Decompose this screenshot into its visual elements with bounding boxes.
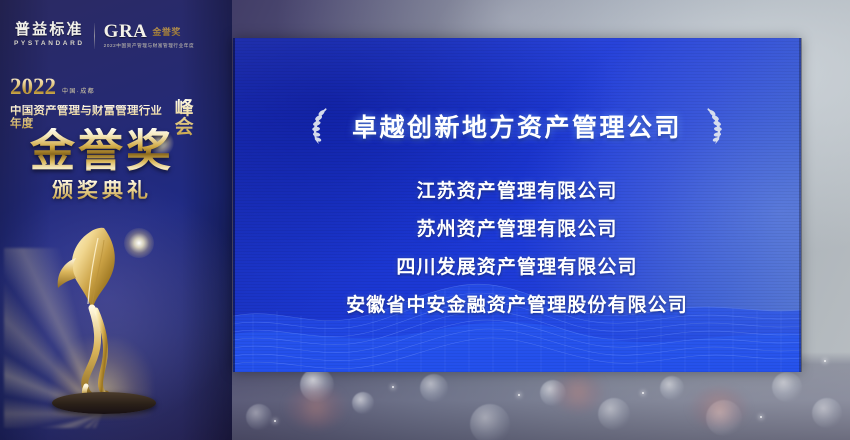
list-item: 苏州资产管理有限公司 bbox=[416, 214, 617, 241]
led-screen-panel: 卓越创新地方资产管理公司 江苏资产管理有限公司 苏州资产管理有限公司 四川发展资… bbox=[233, 38, 801, 372]
sparkle bbox=[760, 416, 762, 418]
screen-right-edge bbox=[799, 38, 802, 372]
list-item: 江苏资产管理有限公司 bbox=[416, 176, 617, 203]
laurel-branch-left-icon bbox=[306, 106, 332, 146]
sponsor-logo-row: 普益标准 PYSTANDARD GRA 金誉奖 2022中国资产管理与财富管理行… bbox=[14, 22, 204, 49]
award-ceremony-stage-photo: 普益标准 PYSTANDARD GRA 金誉奖 2022中国资产管理与财富管理行… bbox=[0, 0, 850, 440]
winner-list: 江苏资产管理有限公司 苏州资产管理有限公司 四川发展资产管理有限公司 安徽省中安… bbox=[233, 176, 801, 317]
warm-glow bbox=[690, 388, 748, 428]
trophy-highlight-sparkle bbox=[124, 228, 154, 258]
award-category-title: 卓越创新地方资产管理公司 bbox=[352, 108, 682, 144]
list-item: 安徽省中安金融资产管理股份有限公司 bbox=[346, 290, 688, 317]
sparkle bbox=[824, 360, 826, 362]
list-item: 四川发展资产管理有限公司 bbox=[396, 252, 637, 279]
gra-award-badge: 金誉奖 bbox=[152, 25, 181, 38]
trophy-base bbox=[52, 392, 156, 414]
screen-left-edge bbox=[233, 38, 235, 372]
award-name: 金誉奖 bbox=[12, 128, 192, 173]
award-title-block: 金誉奖 颁奖典礼 bbox=[12, 128, 192, 201]
sparkle bbox=[274, 420, 276, 422]
gra-wordmark: GRA bbox=[104, 22, 148, 41]
event-banner-panel: 普益标准 PYSTANDARD GRA 金誉奖 2022中国资产管理与财富管理行… bbox=[0, 0, 232, 440]
sparkle bbox=[518, 394, 520, 396]
warm-glow bbox=[286, 386, 346, 428]
logo-divider bbox=[94, 23, 95, 49]
summit-year: 2022 bbox=[10, 76, 56, 98]
trophy-illustration bbox=[24, 218, 180, 418]
pystandard-logo-en: PYSTANDARD bbox=[14, 40, 85, 47]
sparkle bbox=[642, 392, 644, 394]
pystandard-logo: 普益标准 PYSTANDARD bbox=[14, 22, 85, 47]
award-category-heading: 卓越创新地方资产管理公司 bbox=[233, 106, 801, 146]
pystandard-logo-cn: 普益标准 bbox=[15, 22, 84, 38]
warm-glow bbox=[552, 372, 604, 412]
sparkle bbox=[392, 386, 394, 388]
gra-logo: GRA 金誉奖 2022中国资产管理与财富管理行业年度 bbox=[104, 22, 195, 49]
summit-city: 中国·成都 bbox=[62, 86, 95, 98]
award-ceremony-label: 颁奖典礼 bbox=[12, 180, 192, 201]
gra-logo-subtitle: 2022中国资产管理与财富管理行业年度 bbox=[104, 43, 195, 49]
laurel-branch-right-icon bbox=[702, 106, 728, 146]
